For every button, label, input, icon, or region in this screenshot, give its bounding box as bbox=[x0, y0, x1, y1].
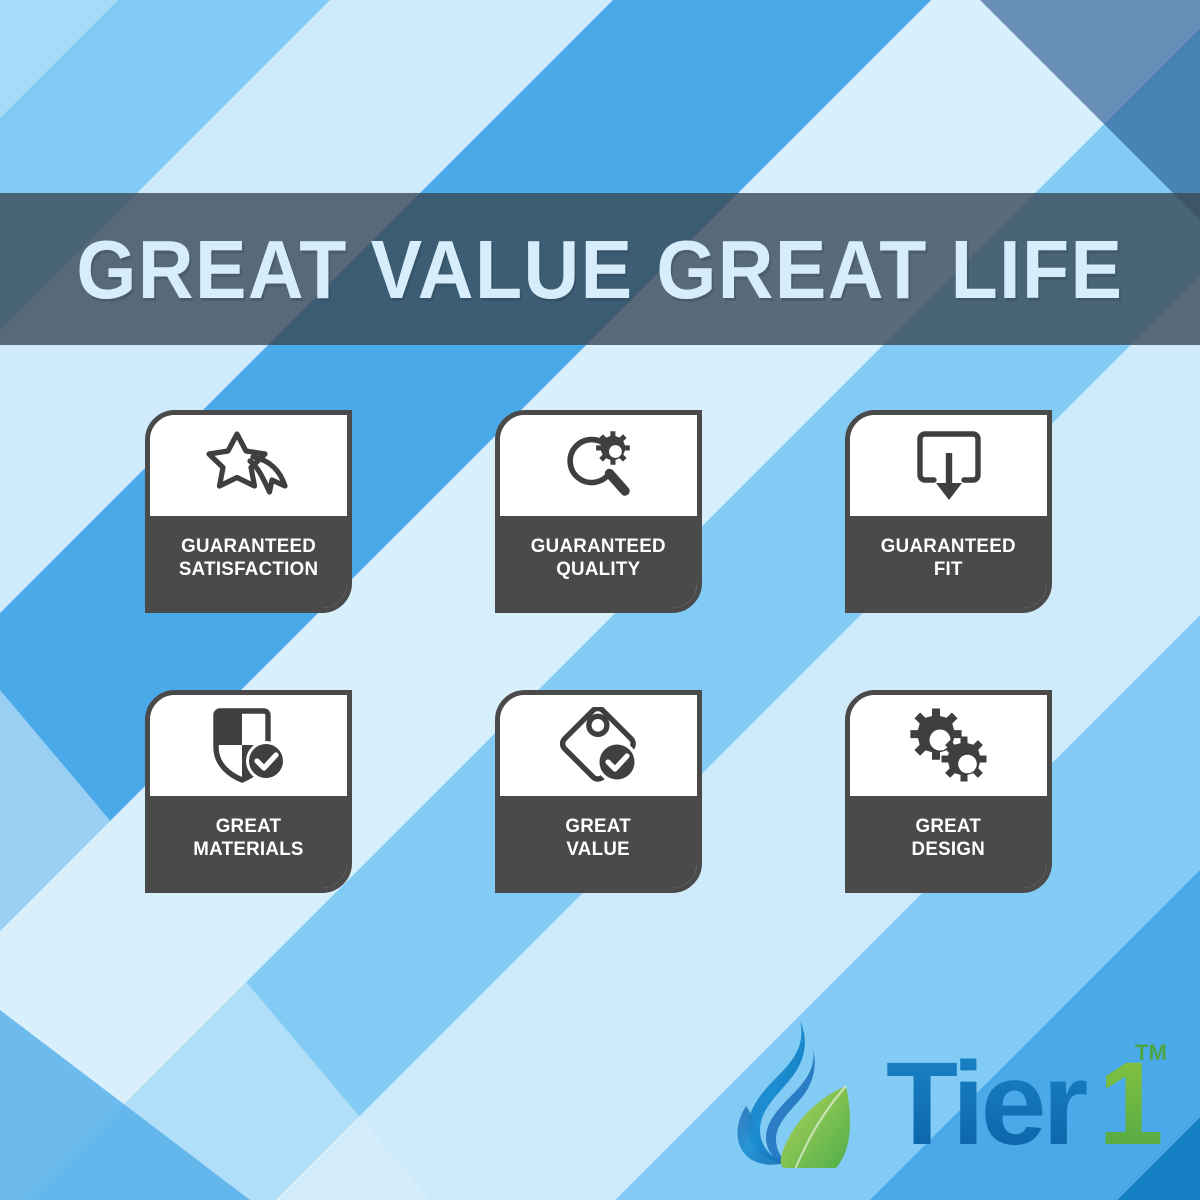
badge-label: GREAT MATERIALS bbox=[193, 815, 303, 860]
badge-label: GUARANTEED QUALITY bbox=[531, 535, 666, 580]
tier1-logo[interactable]: Tier 1 TM bbox=[718, 1018, 1168, 1168]
headline-banner: GREAT VALUE GREAT LIFE bbox=[0, 193, 1200, 345]
badge-label-area: GREAT DESIGN bbox=[850, 796, 1047, 888]
price-tag-check-icon bbox=[556, 707, 642, 785]
logo-trademark: TM bbox=[1135, 1040, 1167, 1065]
poster-canvas: GREAT VALUE GREAT LIFE GUARANTEED SATISF… bbox=[0, 0, 1200, 1200]
badge-label: GUARANTEED FIT bbox=[881, 535, 1016, 580]
logo-wordmark-tier: Tier bbox=[886, 1038, 1087, 1168]
badge-label-area: GUARANTEED FIT bbox=[850, 516, 1047, 608]
badge-label-area: GUARANTEED SATISFACTION bbox=[150, 516, 347, 608]
badge-label: GUARANTEED SATISFACTION bbox=[179, 535, 318, 580]
badge-card-guaranteed-quality[interactable]: GUARANTEED QUALITY bbox=[495, 410, 702, 613]
badge-card-guaranteed-satisfaction[interactable]: GUARANTEED SATISFACTION bbox=[145, 410, 352, 613]
headline-text: GREAT VALUE GREAT LIFE bbox=[76, 228, 1123, 311]
badge-icon-area bbox=[150, 415, 347, 516]
shooting-star-icon bbox=[206, 430, 292, 502]
badge-card-great-materials[interactable]: GREAT MATERIALS bbox=[145, 690, 352, 893]
badge-label: GREAT DESIGN bbox=[912, 815, 986, 860]
badge-card-great-value[interactable]: GREAT VALUE bbox=[495, 690, 702, 893]
badge-card-guaranteed-fit[interactable]: GUARANTEED FIT bbox=[845, 410, 1052, 613]
badge-label: GREAT VALUE bbox=[566, 815, 632, 860]
checkered-shield-check-icon bbox=[208, 707, 290, 785]
badge-grid: GUARANTEED SATISFACTION bbox=[145, 410, 1065, 893]
badge-icon-area bbox=[500, 415, 697, 516]
badge-icon-area bbox=[150, 695, 347, 796]
magnifier-gear-icon bbox=[556, 429, 642, 503]
badge-label-area: GREAT VALUE bbox=[500, 796, 697, 888]
badge-icon-area bbox=[500, 695, 697, 796]
badge-icon-area bbox=[850, 415, 1047, 516]
badge-icon-area bbox=[850, 695, 1047, 796]
two-gears-icon bbox=[907, 707, 991, 785]
badge-label-area: GREAT MATERIALS bbox=[150, 796, 347, 888]
badge-card-great-design[interactable]: GREAT DESIGN bbox=[845, 690, 1052, 893]
badge-label-area: GUARANTEED QUALITY bbox=[500, 516, 697, 608]
box-down-arrow-icon bbox=[914, 428, 984, 504]
